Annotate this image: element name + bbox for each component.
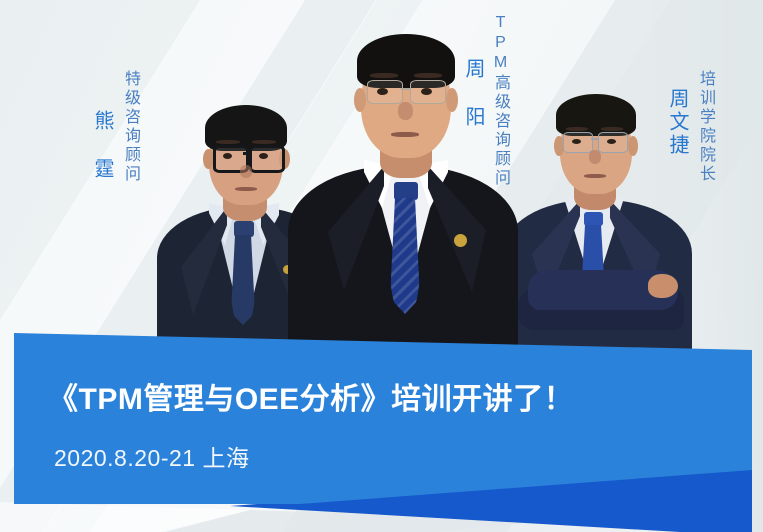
mouth xyxy=(391,132,419,137)
mouth xyxy=(584,174,606,178)
poster-canvas: 特级咨询顾问 熊 霆 TPM高级咨询顾问 周 阳 培训学院院长 周文捷 《TPM… xyxy=(0,0,763,532)
ear-left xyxy=(354,88,366,112)
eyebrow-right xyxy=(414,73,442,78)
eye-left xyxy=(223,153,232,159)
nose xyxy=(398,102,413,120)
eyebrow-left xyxy=(566,127,588,131)
lapel-pin xyxy=(454,234,467,247)
tie-knot xyxy=(234,221,254,237)
eyeglasses-bridge xyxy=(243,152,249,155)
nose xyxy=(589,150,601,164)
speaker-center-title: TPM高级咨询顾问 xyxy=(488,14,512,188)
speaker-left-name: 熊 霆 xyxy=(88,110,117,181)
speaker-right-name: 周文捷 xyxy=(663,88,692,157)
event-banner: 《TPM管理与OEE分析》培训开讲了！ 2020.8.20-21 上海 xyxy=(0,320,763,532)
speaker-right-title: 培训学院院长 xyxy=(693,70,717,184)
eyeglasses-bridge xyxy=(591,138,598,140)
ear-right xyxy=(446,88,458,112)
eyebrow-right xyxy=(601,127,623,131)
event-date-location: 2020.8.20-21 上海 xyxy=(54,439,249,473)
speaker-left-title: 特级咨询顾问 xyxy=(118,70,142,184)
eyeglasses-lens-right xyxy=(249,145,285,173)
tie-knot xyxy=(584,212,603,226)
ear-right xyxy=(628,136,638,156)
eyebrow-right xyxy=(252,140,276,144)
necktie xyxy=(231,235,255,325)
nose xyxy=(240,165,252,178)
eye-left xyxy=(572,139,581,144)
eyebrow-left xyxy=(370,73,398,78)
eye-right xyxy=(259,153,268,159)
eyebrow-left xyxy=(216,140,240,144)
mouth xyxy=(235,187,257,191)
eye-right xyxy=(421,88,432,95)
hand xyxy=(648,274,678,298)
eyeglasses-bridge xyxy=(401,88,410,90)
speaker-center-name: 周 阳 xyxy=(459,58,488,129)
tie-knot xyxy=(394,182,418,200)
eye-right xyxy=(607,139,616,144)
banner-text-block: 《TPM管理与OEE分析》培训开讲了！ 2020.8.20-21 上海 xyxy=(0,320,763,532)
event-headline: 《TPM管理与OEE分析》培训开讲了！ xyxy=(48,374,574,418)
necktie xyxy=(390,198,420,314)
eye-left xyxy=(377,88,388,95)
